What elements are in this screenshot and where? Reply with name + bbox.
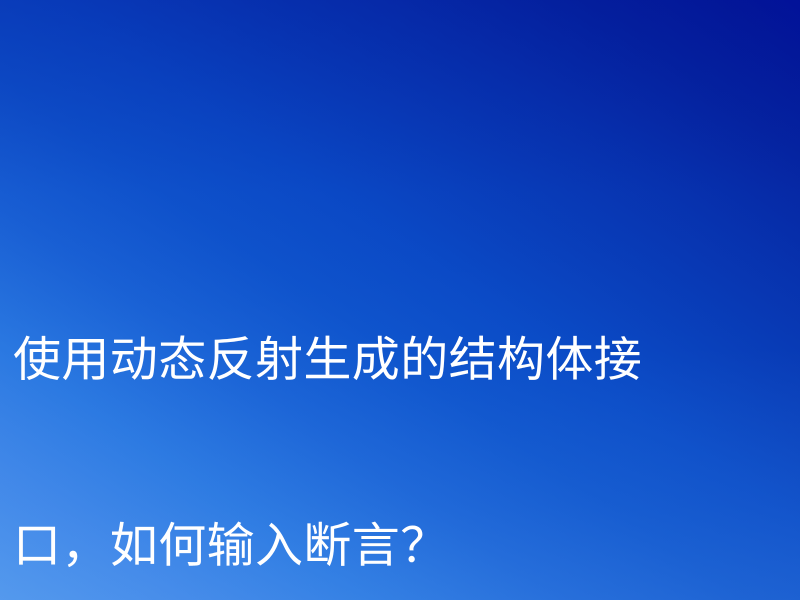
- headline-line-1: 使用动态反射生成的结构体接: [13, 330, 800, 392]
- headline-text: 使用动态反射生成的结构体接 口，如何输入断言？: [13, 206, 800, 600]
- banner-card: 使用动态反射生成的结构体接 口，如何输入断言？: [0, 0, 800, 600]
- headline-line-2: 口，如何输入断言？: [13, 516, 800, 578]
